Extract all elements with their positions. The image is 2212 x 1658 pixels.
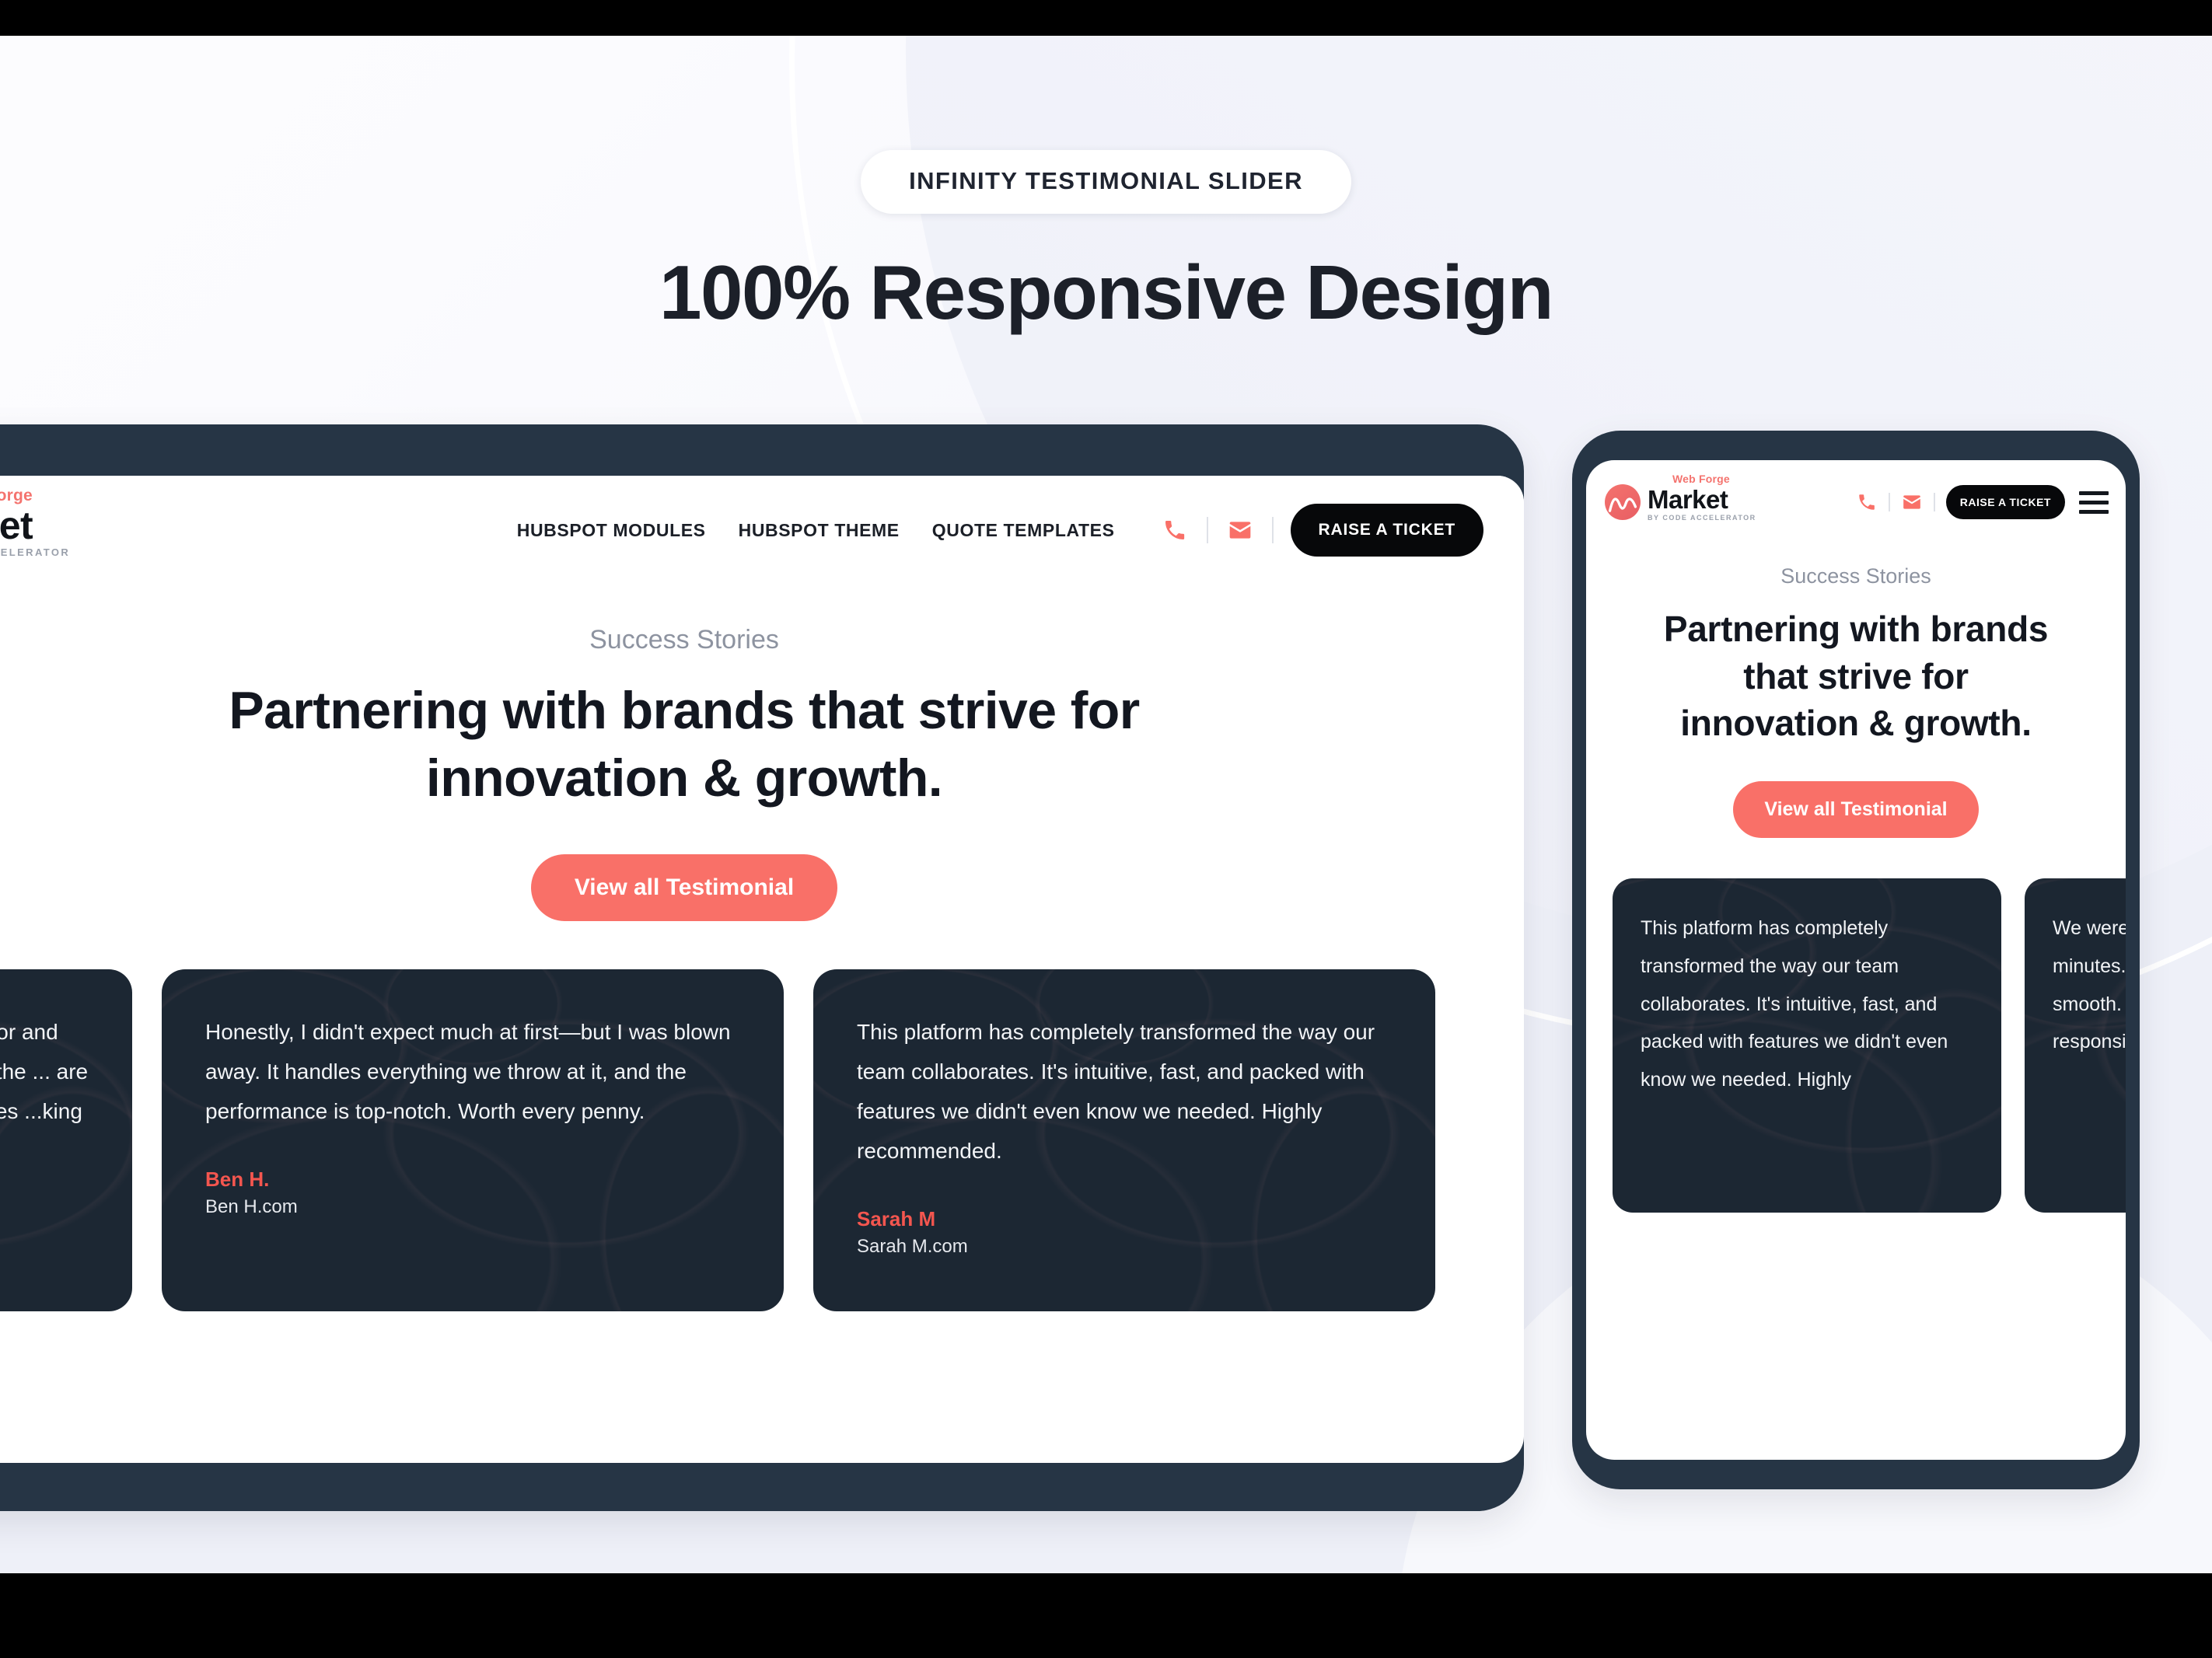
intro-block: INFINITY TESTIMONIAL SLIDER 100% Respons… bbox=[0, 36, 2212, 335]
brand-wordmark: Web Forge Market BY CODE ACCELERATOR bbox=[0, 503, 70, 557]
hero-title: Partnering with brands that strive for i… bbox=[1617, 606, 2095, 747]
primary-nav-desktop: HUBSPOT MODULES HUBSPOT THEME QUOTE TEMP… bbox=[517, 520, 1115, 541]
hero-title-line-2: innovation & growth. bbox=[0, 745, 1524, 812]
testimonial-card[interactable]: This platform has completely transformed… bbox=[813, 969, 1435, 1311]
testimonial-quote: Honestly, I didn't expect much at first—… bbox=[205, 1013, 740, 1132]
phone-icon[interactable] bbox=[1160, 515, 1190, 545]
hero-title-line-3: innovation & growth. bbox=[1617, 700, 2095, 747]
testimonial-card[interactable]: This platform has completely transformed… bbox=[1613, 878, 2001, 1213]
header-separator-1 bbox=[1889, 493, 1890, 511]
hero-eyebrow: Success Stories bbox=[1617, 564, 2095, 588]
hero-title-line-1: Partnering with brands bbox=[1617, 606, 2095, 653]
page-title: 100% Responsive Design bbox=[0, 251, 2212, 335]
testimonial-site: m bbox=[0, 1207, 89, 1229]
hero-eyebrow: Success Stories bbox=[0, 625, 1524, 655]
hero-title-line-2: that strive for bbox=[1617, 653, 2095, 700]
hero-title-line-1: Partnering with brands that strive for bbox=[0, 677, 1524, 745]
presentation-stage: INFINITY TESTIMONIAL SLIDER 100% Respons… bbox=[0, 36, 2212, 1573]
brand-wordmark: Web Forge Market BY CODE ACCELERATOR bbox=[1648, 483, 1756, 522]
brand-logo[interactable]: Web Forge Market BY CODE ACCELERATOR bbox=[0, 503, 70, 557]
brand-name: Market bbox=[0, 506, 70, 545]
testimonial-card[interactable]: Honestly, I didn't expect much at first—… bbox=[162, 969, 784, 1311]
hero-section-mobile: Success Stories Partnering with brands t… bbox=[1586, 544, 2126, 838]
brand-logo[interactable]: Web Forge Market BY CODE ACCELERATOR bbox=[1605, 483, 1756, 522]
nav-item-hubspot-modules[interactable]: HUBSPOT MODULES bbox=[517, 520, 706, 541]
hero-section-desktop: Success Stories Partnering with brands t… bbox=[0, 585, 1524, 921]
testimonial-author: Sarah M bbox=[857, 1207, 1392, 1231]
header-separator-2 bbox=[1272, 517, 1274, 543]
hero-title: Partnering with brands that strive for i… bbox=[0, 677, 1524, 812]
letterbox-top-bar bbox=[0, 0, 2212, 36]
testimonial-slider-mobile[interactable]: This platform has completely transformed… bbox=[1586, 878, 2126, 1213]
hamburger-menu-icon[interactable] bbox=[2079, 491, 2109, 514]
desktop-device-mockup: Web Forge Market BY CODE ACCELERATOR HUB… bbox=[0, 424, 1524, 1511]
slider-badge: INFINITY TESTIMONIAL SLIDER bbox=[861, 150, 1351, 214]
brand-tagline: BY CODE ACCELERATOR bbox=[1648, 515, 1756, 522]
brand-sub-top: Web Forge bbox=[0, 487, 33, 504]
header-actions-mobile: RAISE A TICKET bbox=[1856, 485, 2109, 519]
brand-name: Market bbox=[1648, 487, 1756, 512]
site-header-mobile: Web Forge Market BY CODE ACCELERATOR bbox=[1586, 460, 2126, 544]
view-all-testimonial-button[interactable]: View all Testimonial bbox=[531, 854, 837, 921]
testimonial-slider-desktop[interactable]: ...ched from a big-name competitor and .… bbox=[0, 969, 1524, 1311]
nav-item-quote-templates[interactable]: QUOTE TEMPLATES bbox=[932, 520, 1115, 541]
raise-ticket-button[interactable]: RAISE A TICKET bbox=[1291, 504, 1483, 557]
header-separator-2 bbox=[1934, 493, 1935, 511]
view-all-testimonial-button[interactable]: View all Testimonial bbox=[1733, 781, 1978, 838]
nav-item-hubspot-theme[interactable]: HUBSPOT THEME bbox=[739, 520, 900, 541]
testimonial-quote: ...ched from a big-name competitor and .… bbox=[0, 1013, 89, 1171]
testimonial-quote: This platform has completely transformed… bbox=[857, 1013, 1392, 1171]
email-icon[interactable] bbox=[1225, 515, 1255, 545]
header-actions-desktop: RAISE A TICKET bbox=[1160, 504, 1483, 557]
desktop-screen: Web Forge Market BY CODE ACCELERATOR HUB… bbox=[0, 476, 1524, 1463]
brand-sub-top: Web Forge bbox=[1672, 473, 1730, 484]
mobile-screen: Web Forge Market BY CODE ACCELERATOR bbox=[1586, 460, 2126, 1460]
phone-icon[interactable] bbox=[1856, 491, 1878, 513]
brand-tagline: BY CODE ACCELERATOR bbox=[0, 547, 70, 557]
testimonial-card[interactable]: ...ched from a big-name competitor and .… bbox=[0, 969, 132, 1311]
testimonial-site: Sarah M.com bbox=[857, 1236, 1392, 1258]
testimonial-quote: We were up and running within minutes. T… bbox=[2053, 909, 2126, 1061]
testimonial-quote: This platform has completely transformed… bbox=[1641, 909, 1973, 1099]
site-header-desktop: Web Forge Market BY CODE ACCELERATOR HUB… bbox=[0, 476, 1524, 585]
header-separator-1 bbox=[1207, 517, 1208, 543]
mobile-device-mockup: Web Forge Market BY CODE ACCELERATOR bbox=[1572, 431, 2140, 1489]
testimonial-author: Ben H. bbox=[205, 1168, 740, 1192]
email-icon[interactable] bbox=[1901, 491, 1923, 513]
market-logo-icon bbox=[1605, 484, 1641, 520]
testimonial-card[interactable]: We were up and running within minutes. T… bbox=[2025, 878, 2126, 1213]
raise-ticket-button[interactable]: RAISE A TICKET bbox=[1946, 485, 2065, 519]
testimonial-site: Ben H.com bbox=[205, 1196, 740, 1218]
letterbox-bottom-bar bbox=[0, 1573, 2212, 1658]
